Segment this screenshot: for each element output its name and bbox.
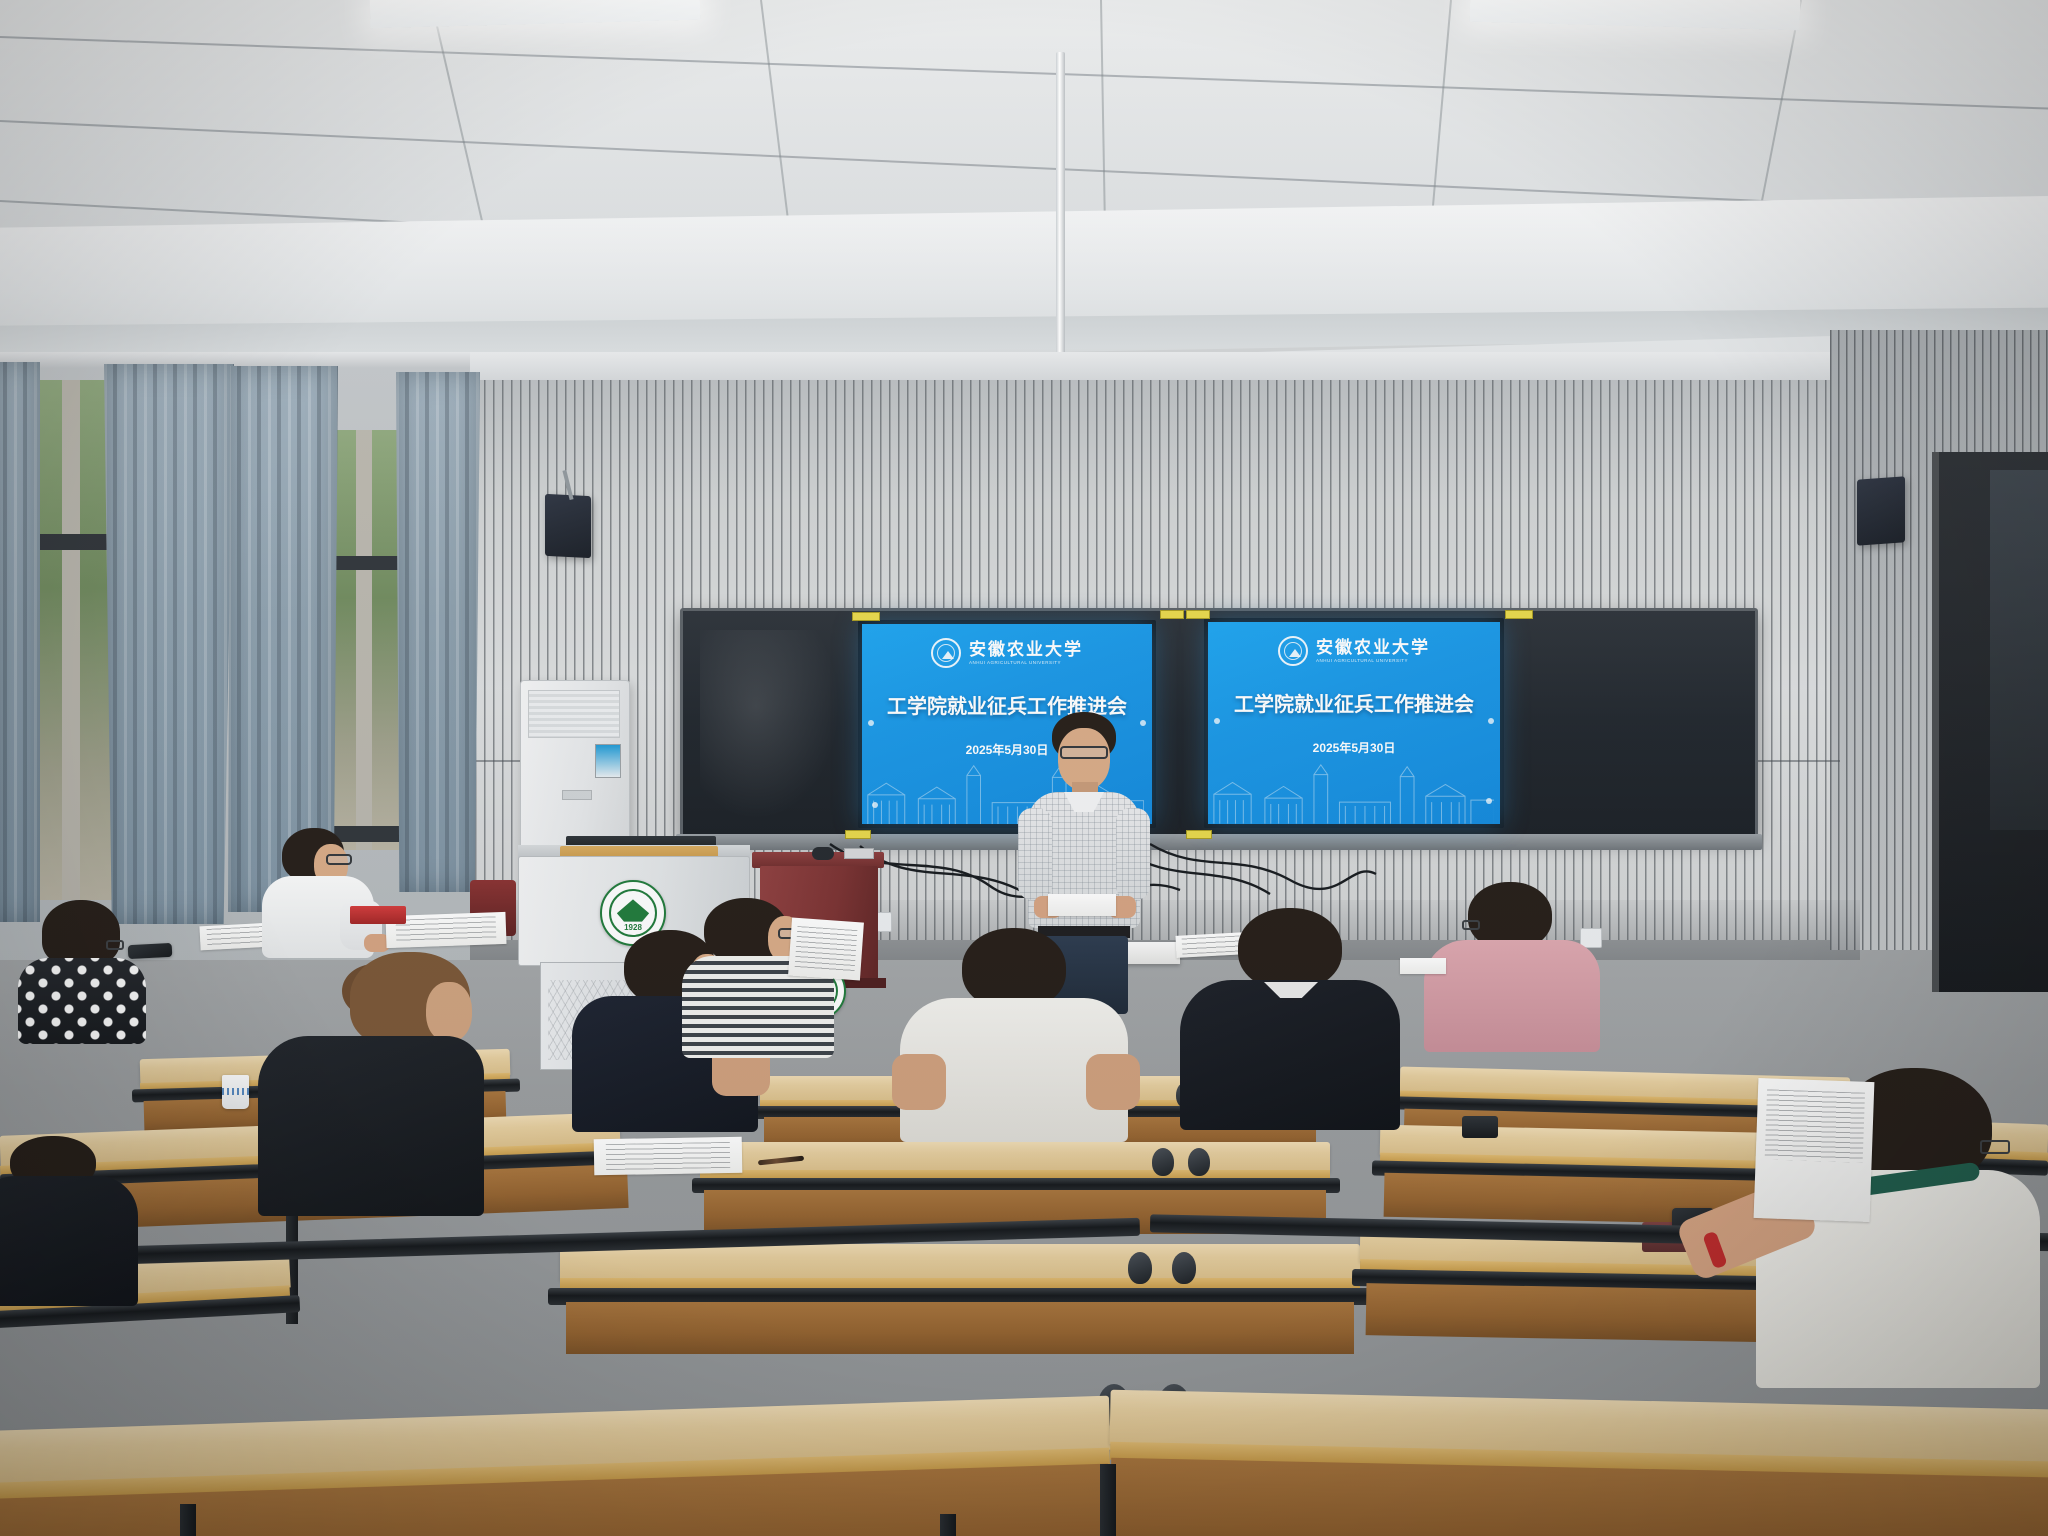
university-seal-icon bbox=[1278, 636, 1308, 666]
paper-row3 bbox=[594, 1137, 743, 1176]
person-attendee-polka-dot bbox=[18, 900, 148, 1040]
pink-polo bbox=[1424, 940, 1600, 1052]
curtain-left-2[interactable] bbox=[104, 364, 234, 924]
slide-date-right: 2025年5月30日 bbox=[1208, 739, 1500, 756]
polka-dot-top bbox=[18, 958, 146, 1044]
curtain-rail bbox=[0, 352, 470, 368]
person-attendee-white-shirt bbox=[262, 828, 382, 958]
person-attendee-bun-blazer bbox=[258, 952, 488, 1212]
university-name-en: ANHUI AGRICULTURAL UNIVERSITY bbox=[1316, 659, 1430, 664]
ac-display bbox=[562, 790, 592, 800]
dark-navy-shirt bbox=[1180, 980, 1400, 1130]
slide-title-right: 工学院就业征兵工作推进会 bbox=[1208, 688, 1500, 717]
warning-label-bottom-right bbox=[1186, 830, 1212, 839]
person-attendee-far-left-dark bbox=[0, 1136, 140, 1306]
curtain-left-1[interactable] bbox=[0, 362, 40, 922]
speaker-glasses-icon bbox=[1060, 746, 1108, 759]
paper-held-striped bbox=[788, 918, 864, 981]
warning-label-top-right bbox=[1505, 610, 1533, 619]
warning-label-top-mid1 bbox=[1160, 610, 1184, 619]
blazer-dark bbox=[258, 1036, 484, 1216]
attendee-glasses-icon bbox=[326, 854, 352, 865]
attendee-glasses-side-icon bbox=[1462, 920, 1480, 930]
university-name-cn: 安徽农业大学 bbox=[1316, 639, 1430, 656]
speaker-arm-left bbox=[1018, 808, 1052, 900]
right-door-glass bbox=[1990, 470, 2048, 830]
warning-label-top-left bbox=[852, 612, 880, 621]
campus-skyline-graphic-right bbox=[1208, 755, 1494, 824]
person-attendee-white-tshirt bbox=[900, 928, 1130, 1138]
university-seal-icon bbox=[931, 638, 961, 668]
attendee-glasses-side-icon bbox=[106, 940, 124, 950]
attendee-glasses-side-icon bbox=[1980, 1140, 2010, 1154]
paper-held-green-collar bbox=[1754, 1078, 1875, 1222]
ac-energy-label bbox=[595, 744, 621, 778]
speaker-arm-right bbox=[1116, 808, 1150, 900]
red-folder bbox=[350, 906, 406, 924]
blackboard-glare bbox=[700, 630, 840, 820]
classroom-photo: 安徽农业大学 ANHUI AGRICULTURAL UNIVERSITY 工学院… bbox=[0, 0, 2048, 1536]
lectern-nameplate bbox=[844, 848, 874, 859]
person-attendee-pink-polo bbox=[1424, 882, 1604, 1052]
display-right[interactable]: 安徽农业大学 ANHUI AGRICULTURAL UNIVERSITY 工学院… bbox=[1208, 622, 1500, 824]
wall-speaker-right bbox=[1857, 476, 1905, 545]
person-attendee-dark-navy bbox=[1180, 908, 1402, 1130]
speaker-held-paper bbox=[1048, 894, 1116, 916]
desk-remote-right[interactable] bbox=[1462, 1116, 1498, 1138]
paper-pink-polo-desk bbox=[1400, 958, 1446, 974]
speaker-face bbox=[1058, 728, 1110, 790]
wall-speaker-left bbox=[545, 494, 591, 558]
ac-grille bbox=[528, 690, 620, 738]
ceiling-camera-pole bbox=[1056, 52, 1065, 382]
university-name-cn: 安徽农业大学 bbox=[969, 641, 1083, 658]
curtain-left-4[interactable] bbox=[396, 372, 480, 892]
university-name-en: ANHUI AGRICULTURAL UNIVERSITY bbox=[969, 661, 1083, 666]
paper-cup[interactable] bbox=[222, 1075, 249, 1109]
warning-label-bottom-left bbox=[845, 830, 871, 839]
warning-label-top-mid2 bbox=[1186, 610, 1210, 619]
lectern-mouse[interactable] bbox=[812, 847, 834, 860]
